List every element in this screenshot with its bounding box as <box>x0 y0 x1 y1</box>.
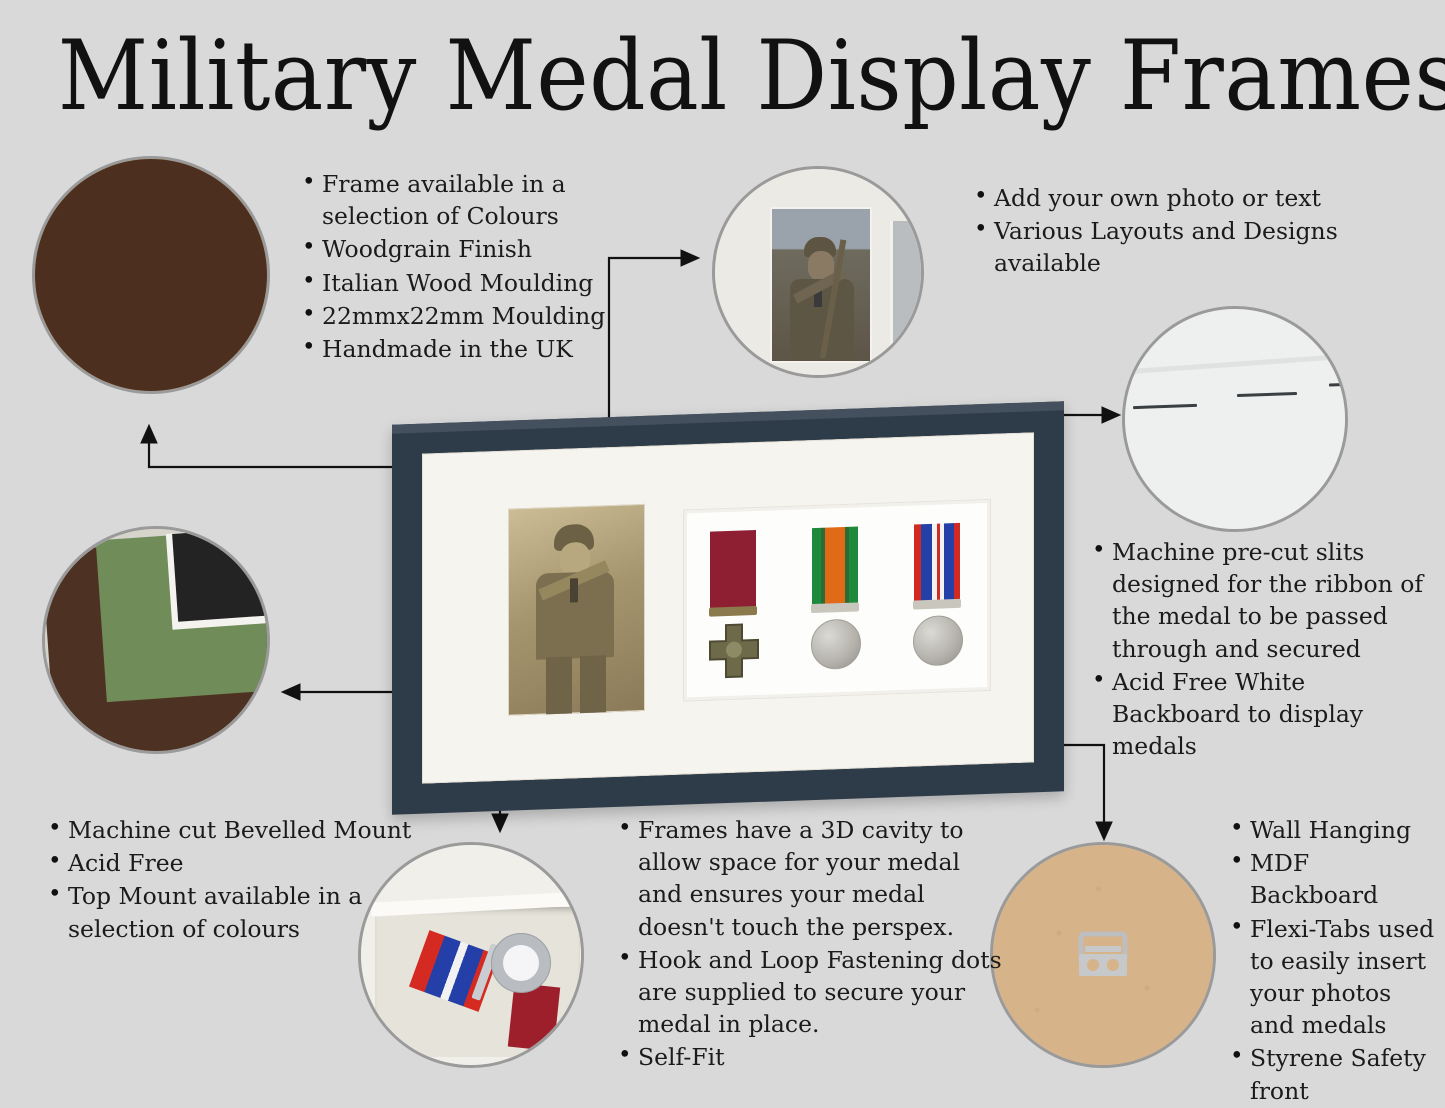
vc-suspender <box>709 606 757 617</box>
bevelled-mount-image <box>42 526 270 754</box>
list-item: Wall Hanging <box>1250 814 1439 846</box>
war-disc <box>913 615 963 667</box>
defence-suspender <box>811 602 859 613</box>
list-item: Top Mount available in a selection of co… <box>68 880 422 944</box>
hanging-features-list: Wall HangingMDF BackboardFlexi-Tabs used… <box>1224 814 1439 1108</box>
cavity-features-list: Frames have a 3D cavity to allow space f… <box>612 814 1002 1075</box>
mount-features-list: Machine cut Bevelled MountAcid FreeTop M… <box>42 814 422 946</box>
slits-features-list: Machine pre-cut slits designed for the r… <box>1086 536 1436 763</box>
frame-white-mount <box>422 432 1034 783</box>
list-item: Acid Free <box>68 847 422 879</box>
list-item: Handmade in the UK <box>322 333 606 365</box>
frame-moulding <box>392 401 1064 814</box>
list-item: Various Layouts and Designs available <box>994 215 1348 279</box>
frame-soldier-photo <box>508 504 645 716</box>
photo-features-list: Add your own photo or textVarious Layout… <box>968 182 1348 281</box>
defence-ribbon <box>812 526 858 606</box>
war-suspender <box>913 599 961 610</box>
list-item: Hook and Loop Fastening dots are supplie… <box>638 944 1002 1041</box>
sawtooth-hanger-icon <box>1073 924 1133 986</box>
mdf-backboard-image <box>990 842 1216 1068</box>
vc-cross-icon <box>707 622 761 682</box>
mount-edge <box>890 221 924 356</box>
frame-top-bevel <box>392 401 1064 433</box>
list-item: Machine pre-cut slits designed for the r… <box>1112 536 1436 665</box>
medal-defence <box>812 526 862 678</box>
list-item: Italian Wood Moulding <box>322 267 606 299</box>
precut-slit-2 <box>1237 392 1297 397</box>
medal-war <box>914 523 964 675</box>
medal-ribbon-crimson <box>508 983 560 1051</box>
list-item: Styrene Safety front <box>1250 1042 1439 1106</box>
list-item: Woodgrain Finish <box>322 233 606 265</box>
list-item: Acid Free White Backboard to display med… <box>1112 666 1436 763</box>
soldier-photo-thumb <box>770 207 872 363</box>
frame-features-list: Frame available in a selection of Colour… <box>296 168 606 366</box>
connector-to-colours <box>149 427 409 467</box>
precut-slit-3 <box>1329 382 1348 386</box>
list-item: MDF Backboard <box>1250 847 1439 911</box>
photo-in-mount-image <box>712 166 924 378</box>
precut-slits-image <box>1122 306 1348 532</box>
frame-colour-swatches-image <box>32 156 270 394</box>
list-item: Machine cut Bevelled Mount <box>68 814 422 846</box>
vc-ribbon <box>710 530 756 610</box>
backboard-fold <box>1122 352 1348 375</box>
war-ribbon <box>914 523 960 603</box>
medal-victoria-cross <box>710 530 760 682</box>
medal-disc <box>491 933 551 993</box>
list-item: Add your own photo or text <box>994 182 1348 214</box>
infographic-canvas: Military Medal Display Frames <box>0 0 1445 1084</box>
frame-medal-window <box>684 500 990 701</box>
defence-disc <box>811 618 861 670</box>
list-item: 22mmx22mm Moulding <box>322 300 606 332</box>
list-item: Flexi-Tabs used to easily insert your ph… <box>1250 913 1439 1042</box>
precut-slit-1 <box>1133 404 1197 409</box>
swatch-chevron-dark-brown <box>32 156 270 394</box>
under-mount-black <box>172 526 270 622</box>
list-item: Frames have a 3D cavity to allow space f… <box>638 814 1002 943</box>
main-display-frame <box>392 413 1064 803</box>
list-item: Self-Fit <box>638 1041 1002 1073</box>
page-title: Military Medal Display Frames <box>58 28 1387 124</box>
list-item: Frame available in a selection of Colour… <box>322 168 606 232</box>
